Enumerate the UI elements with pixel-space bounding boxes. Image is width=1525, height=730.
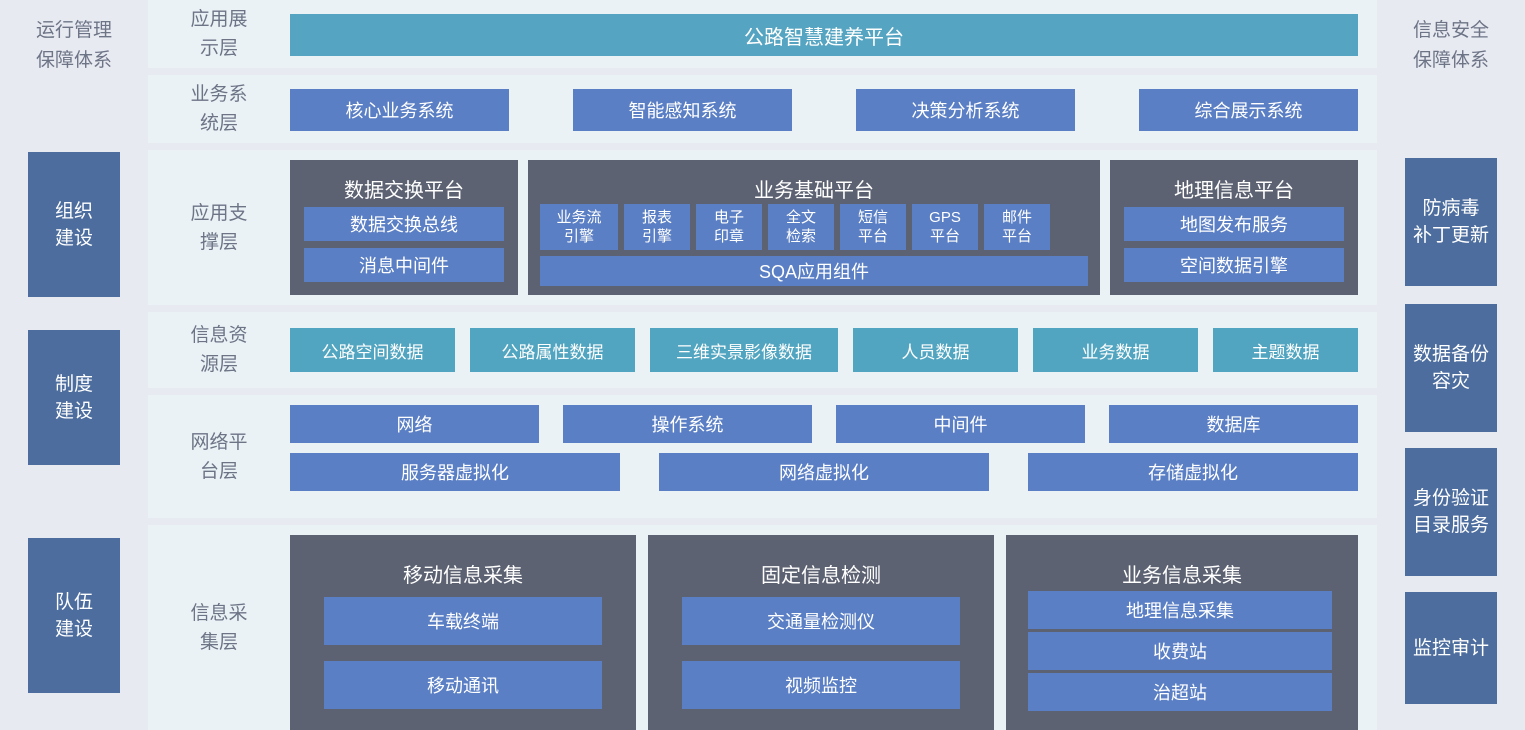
business-system-display[interactable]: 综合展示系统	[1139, 89, 1358, 131]
resource-road-attribute-data[interactable]: 公路属性数据	[470, 328, 635, 372]
message-middleware[interactable]: 消息中间件	[304, 248, 504, 282]
collection-traffic-volume-detector[interactable]: 交通量检测仪	[682, 597, 960, 645]
right-sidebar-block-backup[interactable]: 数据备份 容灾	[1405, 304, 1497, 432]
layer-label-application-support: 应用支 撑层	[148, 150, 290, 305]
right-sidebar-block-identity[interactable]: 身份验证 目录服务	[1405, 448, 1497, 576]
panel-data-exchange: 数据交换平台 数据交换总线 消息中间件	[290, 160, 518, 295]
layer-row-network-platform: 网络平 台层 网络 操作系统 中间件 数据库 服务器虚拟化 网络虚拟化 存储虚拟…	[148, 395, 1377, 518]
module-e-seal[interactable]: 电子 印章	[696, 204, 762, 250]
network-platform-database[interactable]: 数据库	[1109, 405, 1358, 443]
map-publish-service[interactable]: 地图发布服务	[1124, 207, 1344, 241]
left-sidebar-block-system[interactable]: 制度 建设	[28, 330, 120, 465]
sqa-application-component[interactable]: SQA应用组件	[540, 256, 1088, 286]
panel-title-business-foundation: 业务基础平台	[528, 174, 1100, 203]
right-sidebar-block-antivirus[interactable]: 防病毒 补丁更新	[1405, 158, 1497, 286]
layer-row-application-support: 应用支 撑层 数据交换平台 数据交换总线 消息中间件 业务基础平台 业务流 引擎…	[148, 150, 1377, 305]
left-sidebar-block-team[interactable]: 队伍 建设	[28, 538, 120, 693]
layer-label-application-display: 应用展 示层	[148, 0, 290, 68]
module-full-text-search[interactable]: 全文 检索	[768, 204, 834, 250]
collection-toll-station[interactable]: 收费站	[1028, 632, 1332, 670]
module-mail-platform[interactable]: 邮件 平台	[984, 204, 1050, 250]
network-platform-storage-virtualization[interactable]: 存储虚拟化	[1028, 453, 1358, 491]
layer-label-information-collection: 信息采 集层	[148, 525, 290, 730]
layer-row-information-collection: 信息采 集层 移动信息采集 车载终端 移动通讯 固定信息检测 交通量检测仪 视频…	[148, 525, 1377, 730]
layer-stack: 应用展 示层 公路智慧建养平台 业务系 统层 核心业务系统 智能感知系统 决策分…	[148, 0, 1377, 730]
panel-mobile-collection: 移动信息采集 车载终端 移动通讯	[290, 535, 636, 730]
collection-overload-station[interactable]: 治超站	[1028, 673, 1332, 711]
left-sidebar-block-organization[interactable]: 组织 建设	[28, 152, 120, 297]
network-platform-server-virtualization[interactable]: 服务器虚拟化	[290, 453, 620, 491]
network-platform-middleware[interactable]: 中间件	[836, 405, 1085, 443]
resource-personnel-data[interactable]: 人员数据	[853, 328, 1018, 372]
business-system-core[interactable]: 核心业务系统	[290, 89, 509, 131]
platform-banner[interactable]: 公路智慧建养平台	[290, 14, 1358, 56]
spatial-data-engine[interactable]: 空间数据引擎	[1124, 248, 1344, 282]
network-platform-os[interactable]: 操作系统	[563, 405, 812, 443]
module-sms-platform[interactable]: 短信 平台	[840, 204, 906, 250]
architecture-diagram: 运行管理 保障体系 组织 建设 制度 建设 队伍 建设 信息安全 保障体系 防病…	[0, 0, 1525, 730]
right-sidebar-block-audit[interactable]: 监控审计	[1405, 592, 1497, 704]
resource-road-spatial-data[interactable]: 公路空间数据	[290, 328, 455, 372]
left-sidebar-title: 运行管理 保障体系	[0, 16, 148, 76]
layer-row-application-display: 应用展 示层 公路智慧建养平台	[148, 0, 1377, 68]
right-sidebar-title: 信息安全 保障体系	[1377, 16, 1525, 76]
layer-label-business-system: 业务系 统层	[148, 75, 290, 143]
layer-row-information-resource: 信息资 源层 公路空间数据 公路属性数据 三维实景影像数据 人员数据 业务数据 …	[148, 312, 1377, 388]
collection-geographic-information[interactable]: 地理信息采集	[1028, 591, 1332, 629]
resource-business-data[interactable]: 业务数据	[1033, 328, 1198, 372]
right-sidebar: 信息安全 保障体系 防病毒 补丁更新 数据备份 容灾 身份验证 目录服务 监控审…	[1377, 0, 1525, 730]
resource-3d-imagery-data[interactable]: 三维实景影像数据	[650, 328, 838, 372]
panel-fixed-detection: 固定信息检测 交通量检测仪 视频监控	[648, 535, 994, 730]
collection-vehicle-terminal[interactable]: 车载终端	[324, 597, 602, 645]
module-workflow-engine[interactable]: 业务流 引擎	[540, 204, 618, 250]
network-platform-network[interactable]: 网络	[290, 405, 539, 443]
panel-geographic-information: 地理信息平台 地图发布服务 空间数据引擎	[1110, 160, 1358, 295]
panel-title-data-exchange: 数据交换平台	[290, 174, 518, 203]
data-exchange-bus[interactable]: 数据交换总线	[304, 207, 504, 241]
panel-business-collection: 业务信息采集 地理信息采集 收费站 治超站	[1006, 535, 1358, 730]
layer-label-network-platform: 网络平 台层	[148, 395, 290, 518]
panel-title-mobile-collection: 移动信息采集	[290, 559, 636, 588]
resource-thematic-data[interactable]: 主题数据	[1213, 328, 1358, 372]
panel-title-fixed-detection: 固定信息检测	[648, 559, 994, 588]
layer-row-business-system: 业务系 统层 核心业务系统 智能感知系统 决策分析系统 综合展示系统	[148, 75, 1377, 143]
panel-title-business-collection: 业务信息采集	[1006, 559, 1358, 588]
business-system-decision[interactable]: 决策分析系统	[856, 89, 1075, 131]
collection-mobile-communication[interactable]: 移动通讯	[324, 661, 602, 709]
business-system-sensing[interactable]: 智能感知系统	[573, 89, 792, 131]
panel-title-geographic-information: 地理信息平台	[1110, 174, 1358, 203]
left-sidebar: 运行管理 保障体系 组织 建设 制度 建设 队伍 建设	[0, 0, 148, 730]
module-report-engine[interactable]: 报表 引擎	[624, 204, 690, 250]
collection-video-surveillance[interactable]: 视频监控	[682, 661, 960, 709]
network-platform-network-virtualization[interactable]: 网络虚拟化	[659, 453, 989, 491]
panel-business-foundation: 业务基础平台 业务流 引擎 报表 引擎 电子 印章 全文 检索 短信 平台 GP…	[528, 160, 1100, 295]
module-gps-platform[interactable]: GPS 平台	[912, 204, 978, 250]
layer-label-information-resource: 信息资 源层	[148, 312, 290, 388]
